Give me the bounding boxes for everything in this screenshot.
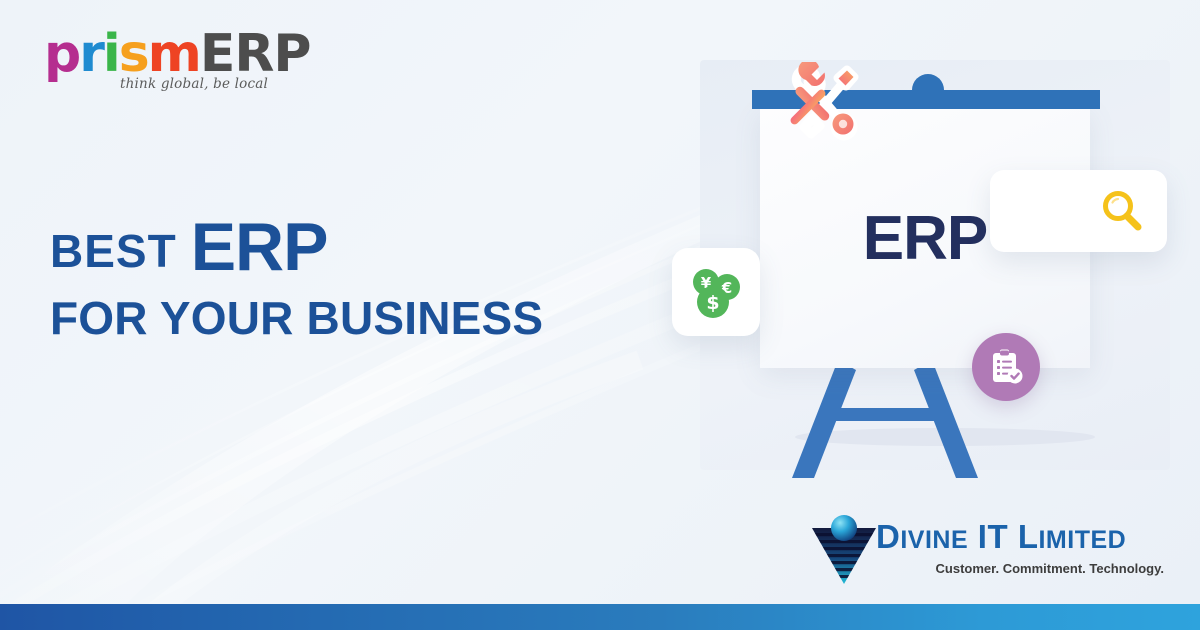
logo-letter-p: p: [44, 24, 79, 84]
divine-company-tagline: Customer. Commitment. Technology.: [876, 561, 1166, 576]
easel-legs: [780, 360, 990, 480]
coins-icon: ¥ € $: [687, 263, 745, 321]
svg-text:$: $: [706, 292, 719, 314]
prism-erp-wordmark: prismERP: [44, 28, 274, 80]
divine-name-it: IT: [968, 518, 1018, 555]
divine-name-d: D: [876, 518, 900, 555]
erp-marketing-banner: prismERP think global, be local BESTERP …: [0, 0, 1200, 630]
clipboard-badge[interactable]: [972, 333, 1040, 401]
logo-letter-m: m: [148, 24, 200, 84]
divine-name-imited: IMITED: [1038, 526, 1126, 554]
logo-suffix-erp: ERP: [200, 24, 311, 84]
headline-line-2: FOR YOUR BUSINESS: [50, 295, 543, 341]
prism-erp-logo[interactable]: prismERP think global, be local: [44, 28, 274, 92]
logo-letter-s: s: [119, 24, 148, 84]
erp-presentation-illustration: ERP ¥ € $: [660, 60, 1200, 480]
divine-company-name: DIVINE IT LIMITED: [876, 520, 1166, 553]
footer-gradient-bar: [0, 604, 1200, 630]
search-card[interactable]: [990, 170, 1167, 252]
magnifier-icon: [1099, 188, 1145, 234]
headline-block: BESTERP FOR YOUR BUSINESS: [50, 212, 543, 341]
headline-word-best: BEST: [50, 225, 177, 277]
divine-name-l: L: [1018, 518, 1039, 555]
headline-word-erp: ERP: [191, 209, 328, 285]
headline-line-1: BESTERP: [50, 212, 543, 283]
logo-letter-i: i: [103, 24, 119, 84]
divine-it-text-block: DIVINE IT LIMITED Customer. Commitment. …: [876, 520, 1166, 576]
divine-it-limited-logo[interactable]: DIVINE IT LIMITED Customer. Commitment. …: [806, 508, 1166, 588]
coins-card[interactable]: ¥ € $: [672, 248, 760, 336]
tools-wrench-screwdriver-icon[interactable]: [782, 62, 868, 148]
divine-triangle-mark-icon: [806, 510, 882, 586]
logo-letter-r: r: [79, 24, 103, 84]
clipboard-check-icon: [987, 348, 1025, 386]
presentation-board-erp-text: ERP: [863, 203, 987, 274]
divine-name-ivine: IVINE: [900, 526, 968, 554]
